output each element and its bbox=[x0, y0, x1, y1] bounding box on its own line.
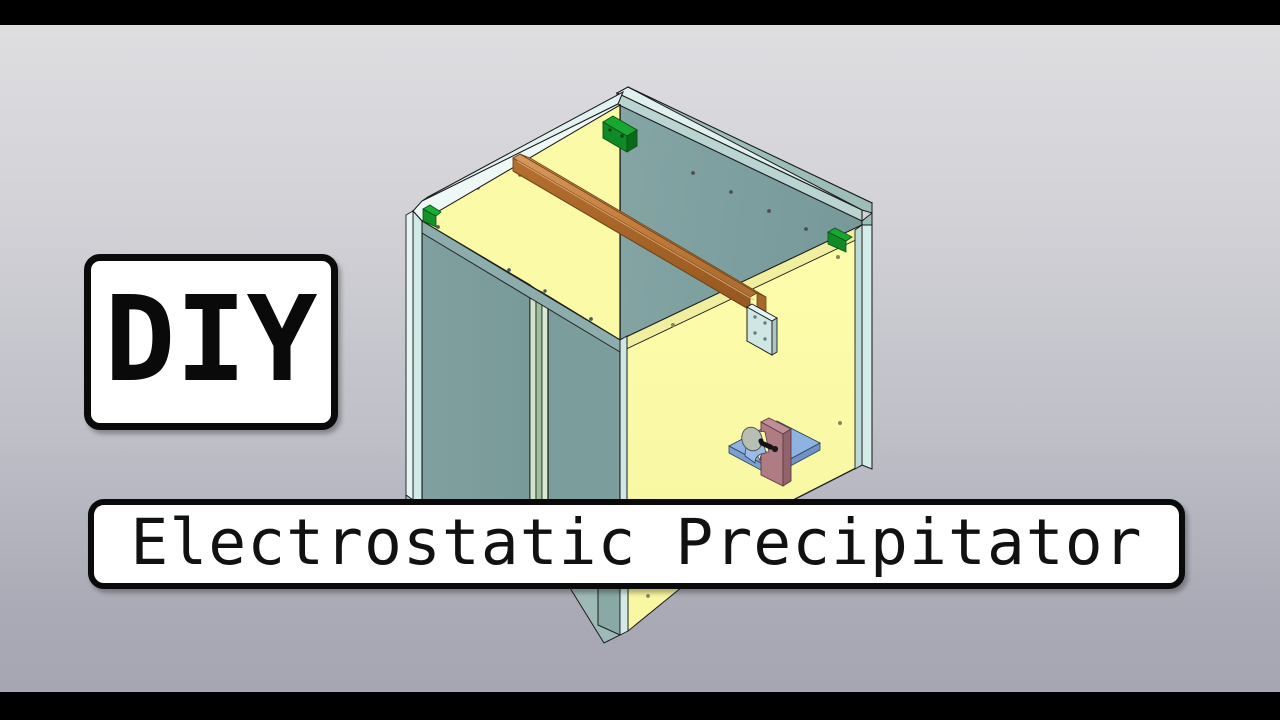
title-label: Electrostatic Precipitator bbox=[130, 511, 1142, 574]
video-frame: DIY Electrostatic Precipitator bbox=[0, 0, 1280, 720]
diy-badge-label: DIY bbox=[104, 280, 317, 398]
diy-badge: DIY bbox=[84, 254, 338, 430]
letterbox-bar-bottom bbox=[0, 692, 1280, 720]
title-bar: Electrostatic Precipitator bbox=[88, 499, 1185, 589]
right-edge-flange bbox=[855, 225, 872, 469]
left-edge-flange bbox=[406, 211, 422, 517]
letterbox-bar-top bbox=[0, 0, 1280, 25]
